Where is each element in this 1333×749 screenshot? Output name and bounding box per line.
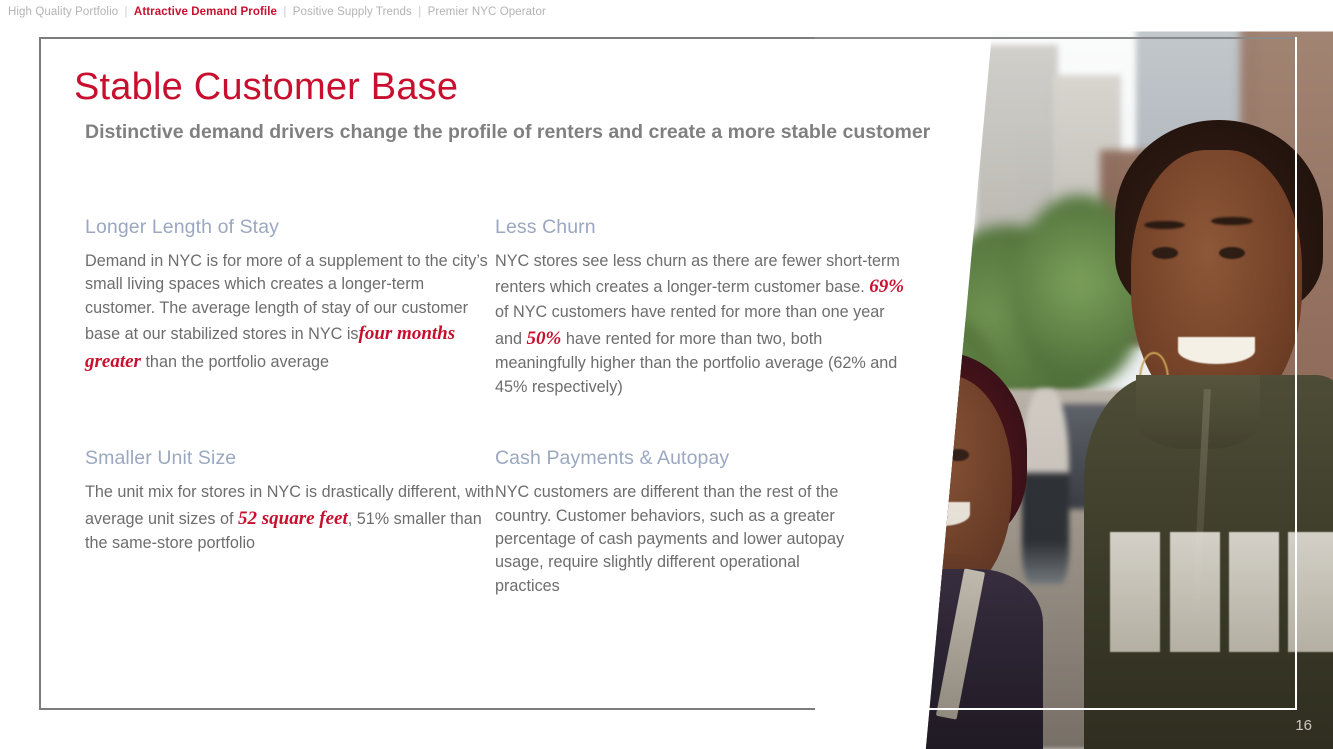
section-heading: Less Churn <box>495 216 905 239</box>
breadcrumb-separator: | <box>280 6 289 18</box>
slide-subtitle: Distinctive demand drivers change the pr… <box>85 120 945 146</box>
section-longer-length-of-stay: Longer Length of Stay Demand in NYC is f… <box>85 216 495 399</box>
section-heading: Smaller Unit Size <box>85 447 495 470</box>
section-highlight: 52 square feet <box>238 508 348 529</box>
section-cash-payments-autopay: Cash Payments & Autopay NYC customers ar… <box>495 447 863 598</box>
sections-grid: Longer Length of Stay Demand in NYC is f… <box>85 216 905 598</box>
breadcrumb-item-attractive-demand-profile[interactable]: Attractive Demand Profile <box>134 6 277 18</box>
sections-row-top: Longer Length of Stay Demand in NYC is f… <box>85 216 905 399</box>
breadcrumb-separator: | <box>415 6 424 18</box>
section-body: NYC customers are different than the res… <box>495 481 863 598</box>
page-number: 16 <box>1295 717 1312 734</box>
section-body: NYC stores see less churn as there are f… <box>495 250 905 399</box>
section-smaller-unit-size: Smaller Unit Size The unit mix for store… <box>85 447 495 598</box>
section-body-text: NYC stores see less churn as there are f… <box>495 252 900 296</box>
section-body-text-after: than the portfolio average <box>145 353 329 371</box>
page-title: Stable Customer Base <box>74 66 458 109</box>
section-heading: Cash Payments & Autopay <box>495 447 863 470</box>
breadcrumb-separator: | <box>122 6 131 18</box>
section-highlight: 69% <box>869 276 904 297</box>
breadcrumb-item-positive-supply-trends[interactable]: Positive Supply Trends <box>293 6 412 18</box>
section-less-churn: Less Churn NYC stores see less churn as … <box>495 216 905 399</box>
slide-content: Stable Customer Base Distinctive demand … <box>0 0 815 749</box>
breadcrumb-item-high-quality-portfolio[interactable]: High Quality Portfolio <box>8 6 118 18</box>
breadcrumb: High Quality Portfolio | Attractive Dema… <box>8 6 546 18</box>
section-highlight-secondary: 50% <box>527 328 562 349</box>
sections-row-bottom: Smaller Unit Size The unit mix for store… <box>85 447 905 598</box>
section-body: The unit mix for stores in NYC is drasti… <box>85 481 495 556</box>
section-body: Demand in NYC is for more of a supplemen… <box>85 250 495 376</box>
breadcrumb-item-premier-nyc-operator[interactable]: Premier NYC Operator <box>428 6 546 18</box>
section-heading: Longer Length of Stay <box>85 216 495 239</box>
